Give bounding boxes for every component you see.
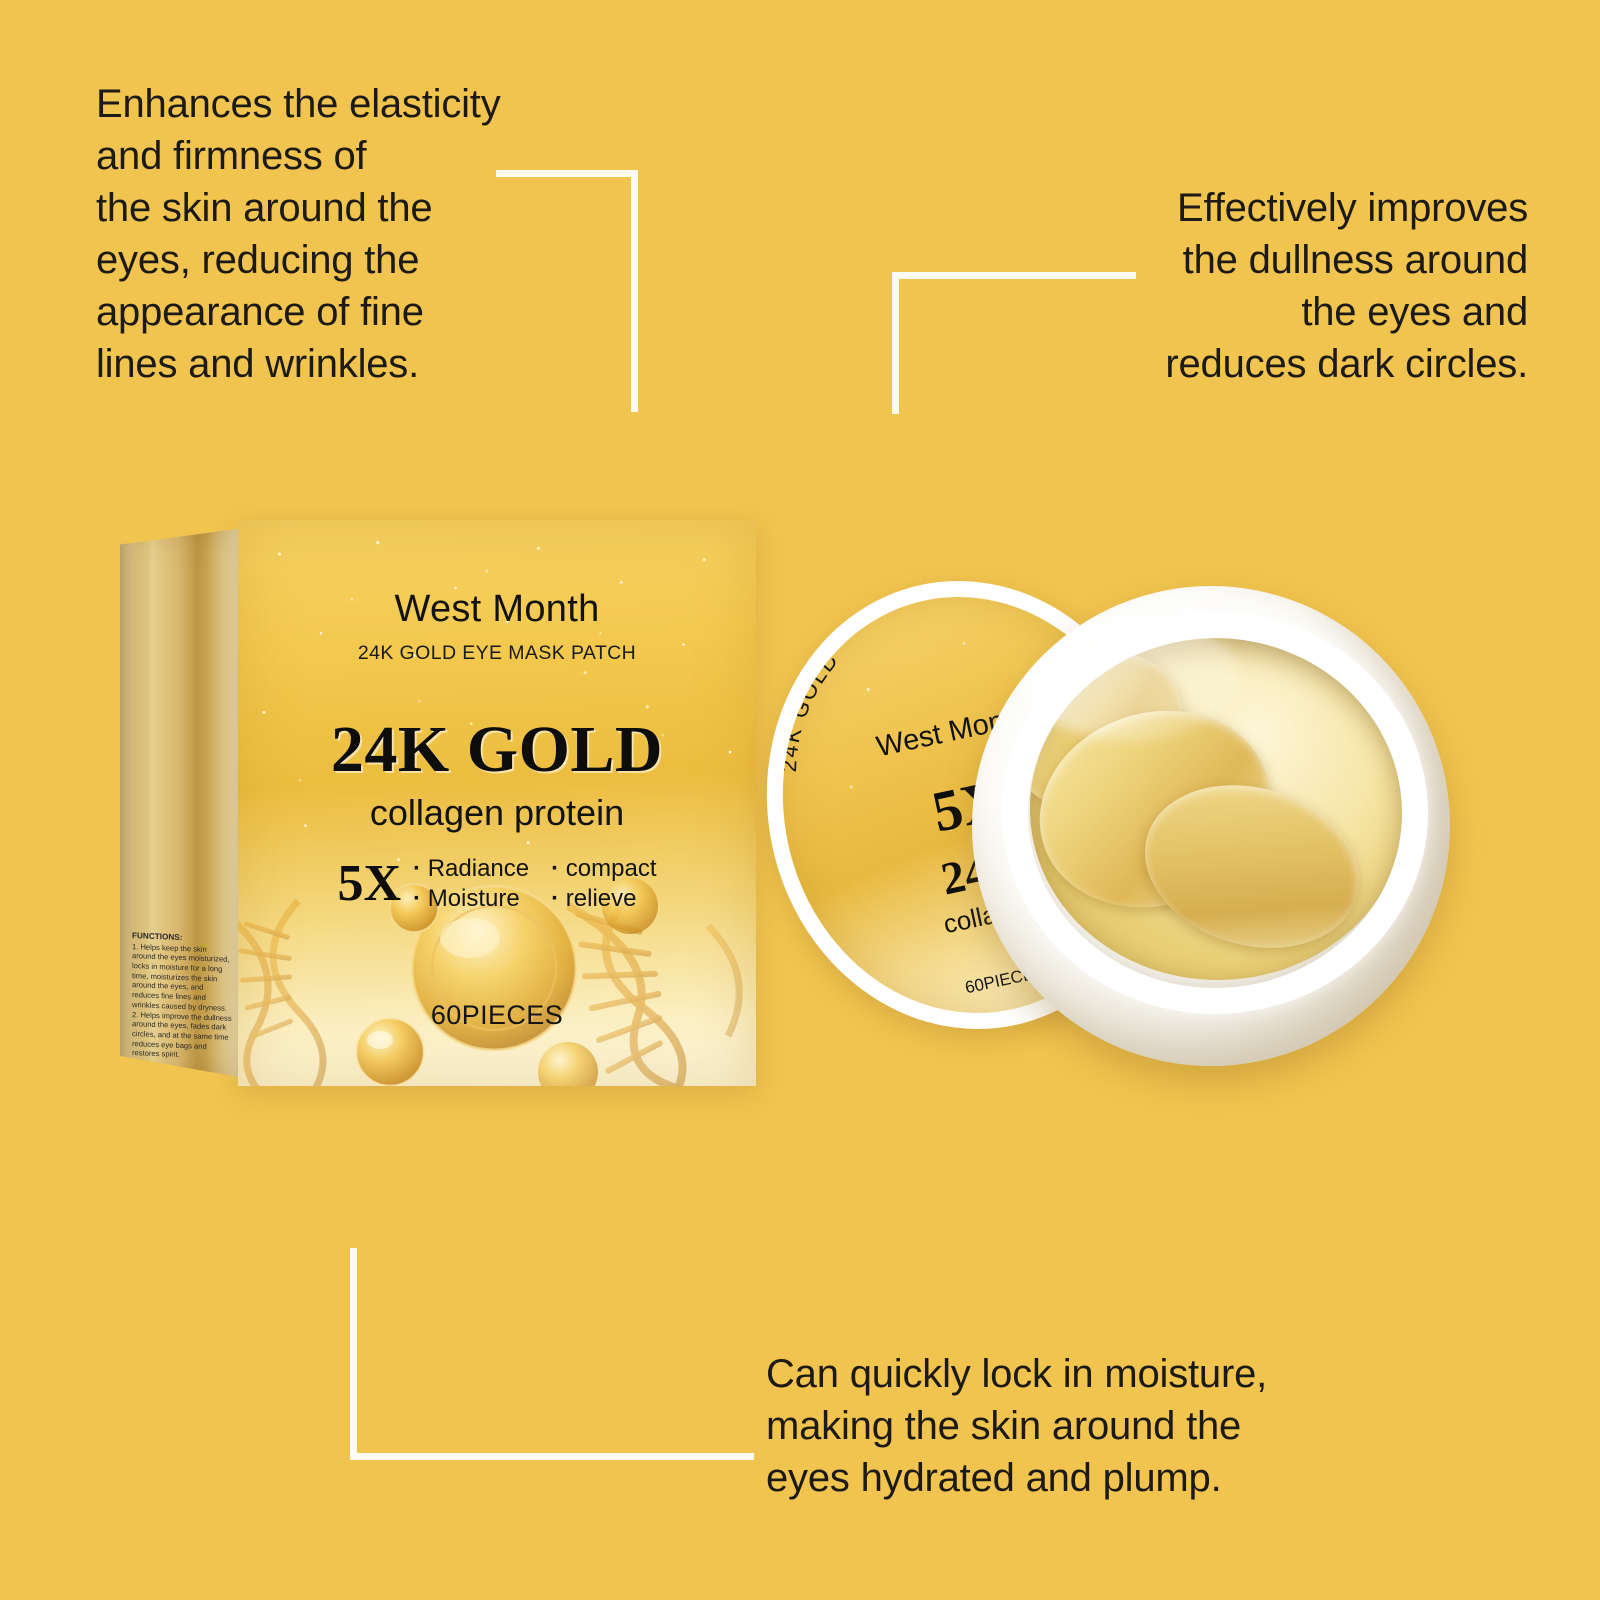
box-claims-row: 5X Radiance compact Moisture relieve	[238, 855, 756, 913]
callout-moisture-line-3: eyes hydrated and plump.	[766, 1452, 1267, 1504]
callout-dullness-line-4: reduces dark circles.	[1165, 338, 1528, 390]
product-box: FUNCTIONS: 1. Helps keep the skin around…	[120, 520, 756, 1086]
callout-dullness-line-2: the dullness around	[1165, 234, 1528, 286]
callout-moisture: Can quickly lock in moisture, making the…	[766, 1348, 1267, 1504]
callout-elasticity-line-3: the skin around the	[96, 182, 501, 234]
box-subtitle: 24K GOLD EYE MASK PATCH	[238, 642, 756, 665]
box-piece-count: 60PIECES	[238, 1000, 756, 1031]
callout-dullness: Effectively improves the dullness around…	[1165, 182, 1528, 390]
functions-item-1: 1. Helps keep the skin around the eyes m…	[132, 941, 232, 1013]
box-benefit-moisture: Moisture	[413, 885, 529, 913]
box-benefit-list: Radiance compact Moisture relieve	[413, 855, 656, 913]
jar-body	[972, 586, 1450, 1066]
callout-moisture-line-1: Can quickly lock in moisture,	[766, 1348, 1267, 1400]
box-brand-name: West Month	[238, 588, 756, 631]
callout-elasticity-line-1: Enhances the elasticity	[96, 78, 501, 130]
callout-dullness-line-3: the eyes and	[1165, 286, 1528, 338]
callout-elasticity: Enhances the elasticity and firmness of …	[96, 78, 501, 390]
product-box-side-panel: FUNCTIONS: 1. Helps keep the skin around…	[120, 528, 244, 1078]
callout-dullness-line-1: Effectively improves	[1165, 182, 1528, 234]
box-product-title: 24K GOLD	[238, 712, 756, 788]
box-benefit-radiance: Radiance	[413, 855, 529, 883]
callout-moisture-line-2: making the skin around the	[766, 1400, 1267, 1452]
callout-elasticity-line-4: eyes, reducing the	[96, 234, 501, 286]
callout-elasticity-line-5: appearance of fine	[96, 286, 501, 338]
callout-elasticity-line-2: and firmness of	[96, 130, 501, 182]
functions-item-2: 2. Helps improve the dullness around the…	[132, 1009, 232, 1061]
box-multiplier: 5X	[337, 858, 401, 910]
connector-line-moisture-vertical	[350, 1248, 357, 1460]
jar-interior	[1030, 638, 1406, 980]
connector-line-moisture-horizontal	[350, 1453, 754, 1460]
product-box-front-panel: West Month 24K GOLD EYE MASK PATCH 24K G…	[238, 520, 756, 1086]
product-box-functions-text: FUNCTIONS: 1. Helps keep the skin around…	[132, 931, 232, 1062]
connector-line-dullness-vertical	[892, 272, 899, 414]
box-benefit-compact: compact	[551, 855, 656, 883]
callout-elasticity-line-6: lines and wrinkles.	[96, 338, 501, 390]
box-benefit-relieve: relieve	[551, 885, 656, 913]
connector-line-elasticity-vertical	[631, 170, 638, 412]
box-collagen-label: collagen protein	[238, 792, 756, 834]
connector-line-elasticity-horizontal	[496, 170, 638, 177]
connector-line-dullness-horizontal	[892, 272, 1136, 279]
product-jar: 24K GOLD EYE MASK West Month 5X 24K coll…	[760, 568, 1460, 1088]
